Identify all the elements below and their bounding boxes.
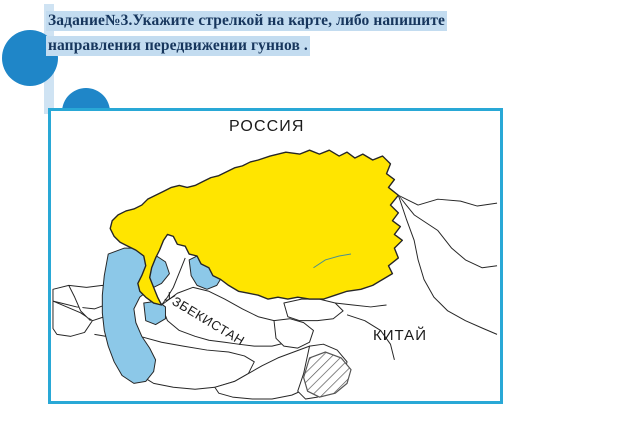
task-text-line-1: Задание№3.Укажите стрелкой на карте, либ… <box>46 11 447 31</box>
task-text-block: Задание№3.Укажите стрелкой на карте, либ… <box>46 8 576 58</box>
china-inner-line-1 <box>347 315 394 360</box>
russia-east-border <box>398 195 497 206</box>
slide-canvas: Задание№3.Укажите стрелкой на карте, либ… <box>0 0 619 424</box>
map-frame: РОССИЯ КИТАЙ УЗБЕКИСТАН <box>48 108 503 404</box>
central-asia-map <box>51 111 500 401</box>
kyrgyzstan-outline <box>284 299 343 321</box>
china-inner-line-2 <box>335 303 386 307</box>
task-text-line-2: направления передвижении гуннов . <box>46 36 310 56</box>
